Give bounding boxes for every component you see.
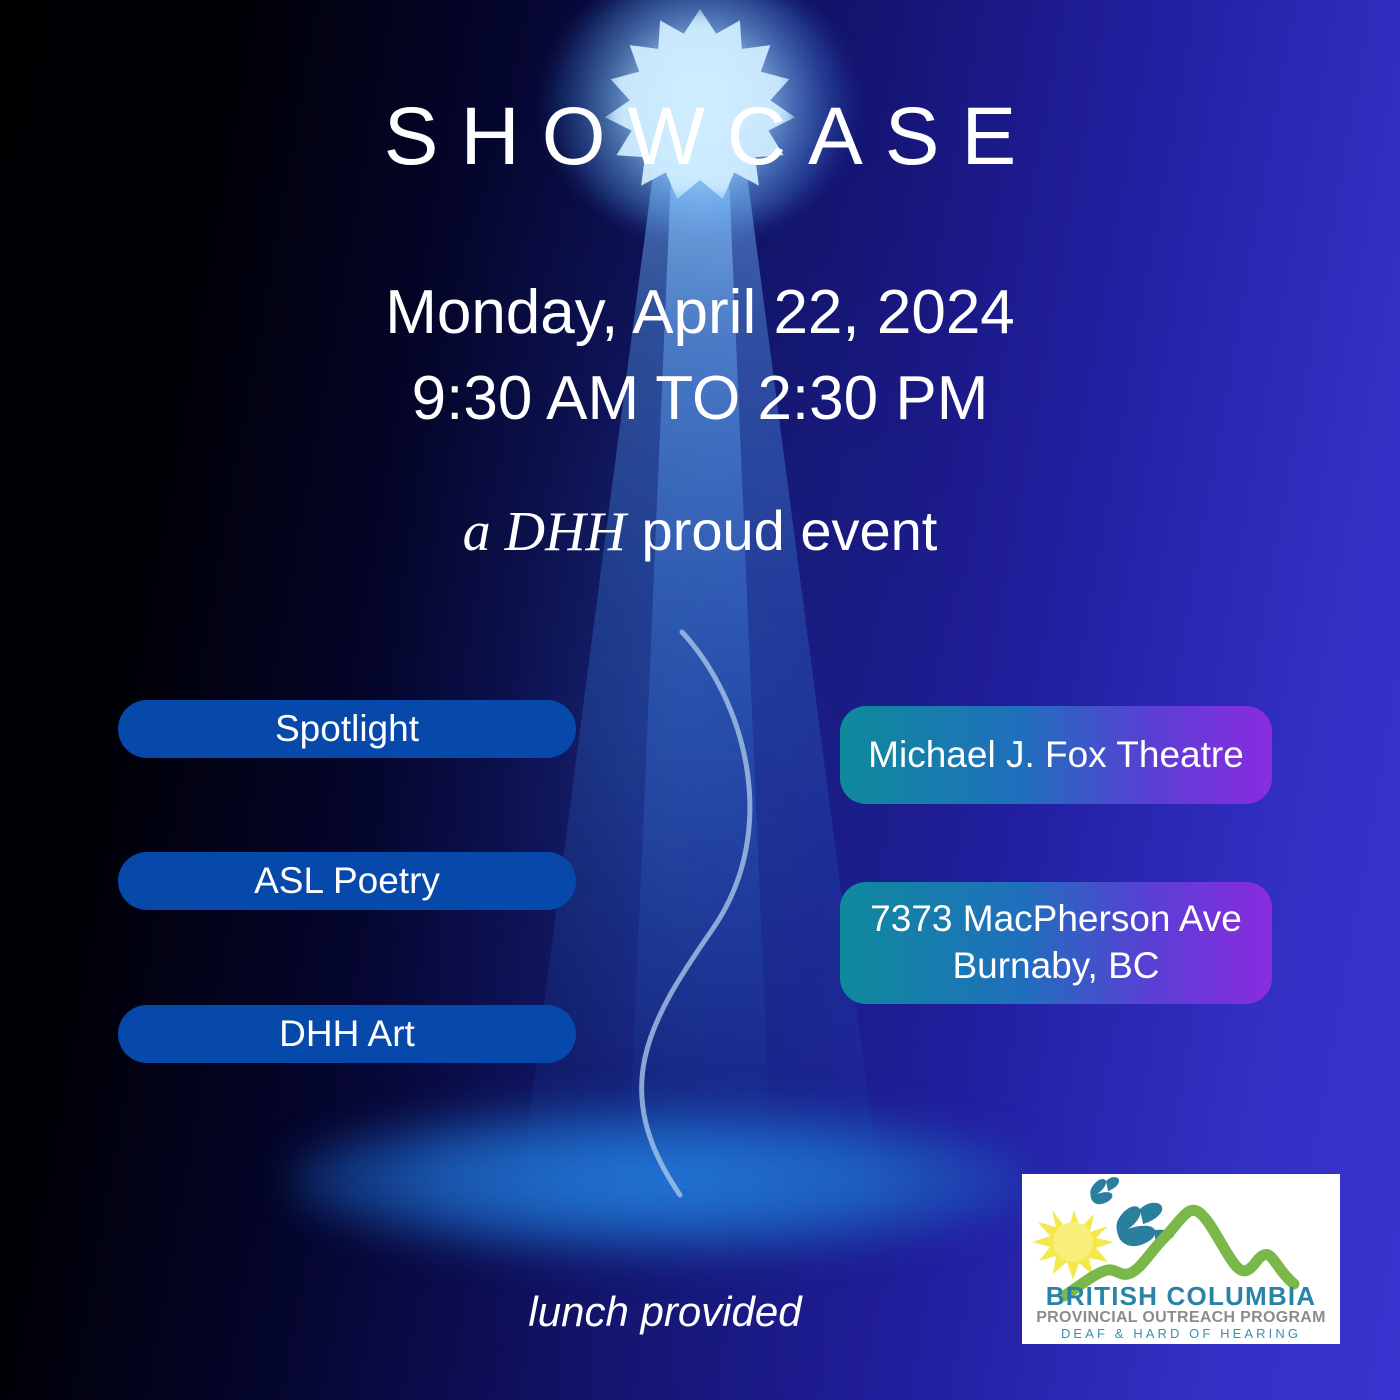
logo-program-text: PROVINCIAL OUTREACH PROGRAM <box>1036 1309 1326 1326</box>
program-pill-spotlight[interactable]: Spotlight <box>118 700 576 758</box>
page-title: SHOWCASE <box>0 96 1400 178</box>
butterfly-icon-small <box>1090 1177 1119 1204</box>
venue-address-line2: Burnaby, BC <box>952 945 1159 986</box>
tagline-rest-part: proud event <box>626 499 937 562</box>
bc-outreach-logo: BRITISH COLUMBIA PROVINCIAL OUTREACH PRO… <box>1022 1174 1340 1344</box>
event-poster: SHOWCASE Monday, April 22, 2024 9:30 AM … <box>0 0 1400 1400</box>
venue-pill-theatre[interactable]: Michael J. Fox Theatre <box>840 706 1272 804</box>
event-tagline: a DHH proud event <box>0 498 1400 564</box>
venue-name-label: Michael J. Fox Theatre <box>868 732 1244 779</box>
program-pill-label: Spotlight <box>275 708 419 750</box>
venue-address-line1: 7373 MacPherson Ave <box>870 898 1242 939</box>
program-pill-dhh-art[interactable]: DHH Art <box>118 1005 576 1063</box>
program-pill-asl-poetry[interactable]: ASL Poetry <box>118 852 576 910</box>
venue-address-block: 7373 MacPherson Ave Burnaby, BC <box>870 896 1242 989</box>
event-datetime: Monday, April 22, 2024 9:30 AM TO 2:30 P… <box>0 270 1400 441</box>
logo-name-text: BRITISH COLUMBIA <box>1046 1281 1317 1311</box>
tagline-italic-part: a DHH <box>463 501 626 563</box>
event-date: Monday, April 22, 2024 <box>0 270 1400 356</box>
program-pill-label: ASL Poetry <box>254 860 440 902</box>
event-time: 9:30 AM TO 2:30 PM <box>0 356 1400 442</box>
logo-tagline-text: DEAF & HARD OF HEARING <box>1061 1326 1301 1341</box>
program-pill-label: DHH Art <box>279 1013 415 1055</box>
venue-pill-address[interactable]: 7373 MacPherson Ave Burnaby, BC <box>840 882 1272 1004</box>
stage-light-pool <box>290 1105 1030 1255</box>
spotlight-beam-core <box>550 60 850 1180</box>
logo-artwork: BRITISH COLUMBIA PROVINCIAL OUTREACH PRO… <box>1022 1174 1340 1344</box>
